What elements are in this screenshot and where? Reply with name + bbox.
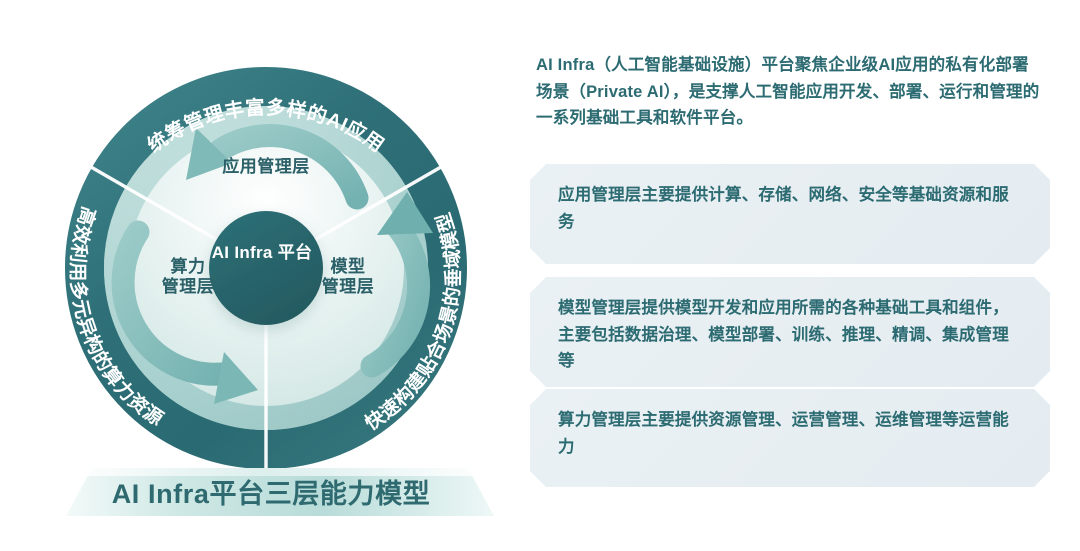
description-card-model: 模型管理层提供模型开发和应用所需的各种基础工具和组件，主要包括数据治理、模型部署… <box>530 277 1050 387</box>
description-card-compute: 算力管理层主要提供资源管理、运营管理、运维管理等运营能力 <box>530 389 1050 487</box>
card-text: 算力管理层主要提供资源管理、运营管理、运维管理等运营能力 <box>558 407 1024 460</box>
intro-paragraph: AI Infra（人工智能基础设施）平台聚焦企业级AI应用的私有化部署场景（Pr… <box>536 52 1044 132</box>
slide-canvas: 统筹管理丰富多样的AI应用 高效利用多元异构的算力资源 快速构建贴合场景的垂域模… <box>0 0 1080 551</box>
diagram-title: AI Infra平台三层能力模型 <box>46 472 496 511</box>
center-circle <box>209 211 323 325</box>
three-layer-capability-diagram: 统筹管理丰富多样的AI应用 高效利用多元异构的算力资源 快速构建贴合场景的垂域模… <box>0 0 520 551</box>
center-platform-label: AI Infra 平台 <box>196 238 328 263</box>
description-card-application: 应用管理层主要提供计算、存储、网络、安全等基础资源和服务 <box>530 164 1050 264</box>
diagram-title-area: AI Infra平台三层能力模型 <box>46 460 496 522</box>
description-panel: AI Infra（人工智能基础设施）平台聚焦企业级AI应用的私有化部署场景（Pr… <box>528 0 1080 551</box>
card-text: 应用管理层主要提供计算、存储、网络、安全等基础资源和服务 <box>558 182 1024 235</box>
card-text: 模型管理层提供模型开发和应用所需的各种基础工具和组件，主要包括数据治理、模型部署… <box>558 295 1024 375</box>
